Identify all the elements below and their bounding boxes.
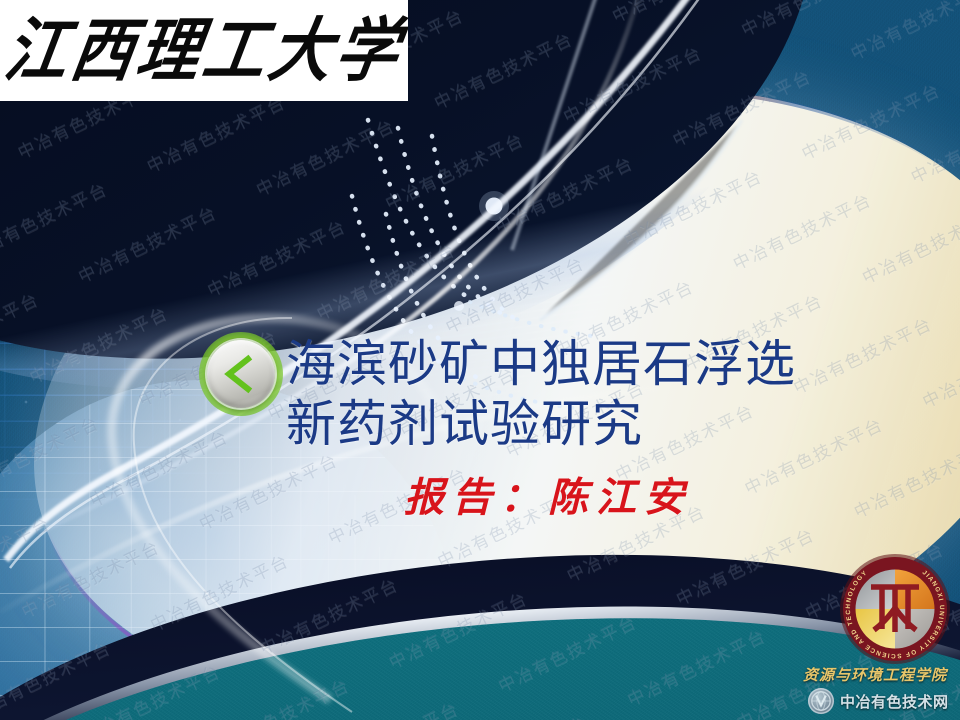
presenter-line: 报告：陈江安 — [404, 474, 906, 522]
site-watermark-text: 中冶有色技术网 — [840, 691, 949, 712]
globe-logo-icon — [808, 688, 834, 714]
chevron-left-icon — [218, 351, 264, 397]
chevron-disc — [207, 340, 275, 408]
title-line-2: 新药剂试验研究 — [286, 394, 906, 454]
university-name-banner: 江西理工大学 — [0, 0, 408, 101]
site-watermark: 中冶有色技术网 — [808, 688, 949, 714]
chevron-left-button[interactable] — [199, 332, 283, 416]
title-line-1: 海滨砂矿中独居石浮选 — [286, 334, 906, 394]
department-name: 资源与环境工程学院 — [795, 664, 955, 685]
university-seal-logo: JIANGXI UNIVERSITY OF SCIENCE AND TECHNO… — [838, 552, 952, 666]
presentation-slide: 中冶有色技术平台中冶有色技术平台中冶有色技术平台中冶有色技术平台中冶有色技术平台… — [0, 0, 960, 720]
title-block: 海滨砂矿中独居石浮选 新药剂试验研究 报告：陈江安 — [286, 334, 906, 522]
university-name-text: 江西理工大学 — [0, 16, 407, 85]
